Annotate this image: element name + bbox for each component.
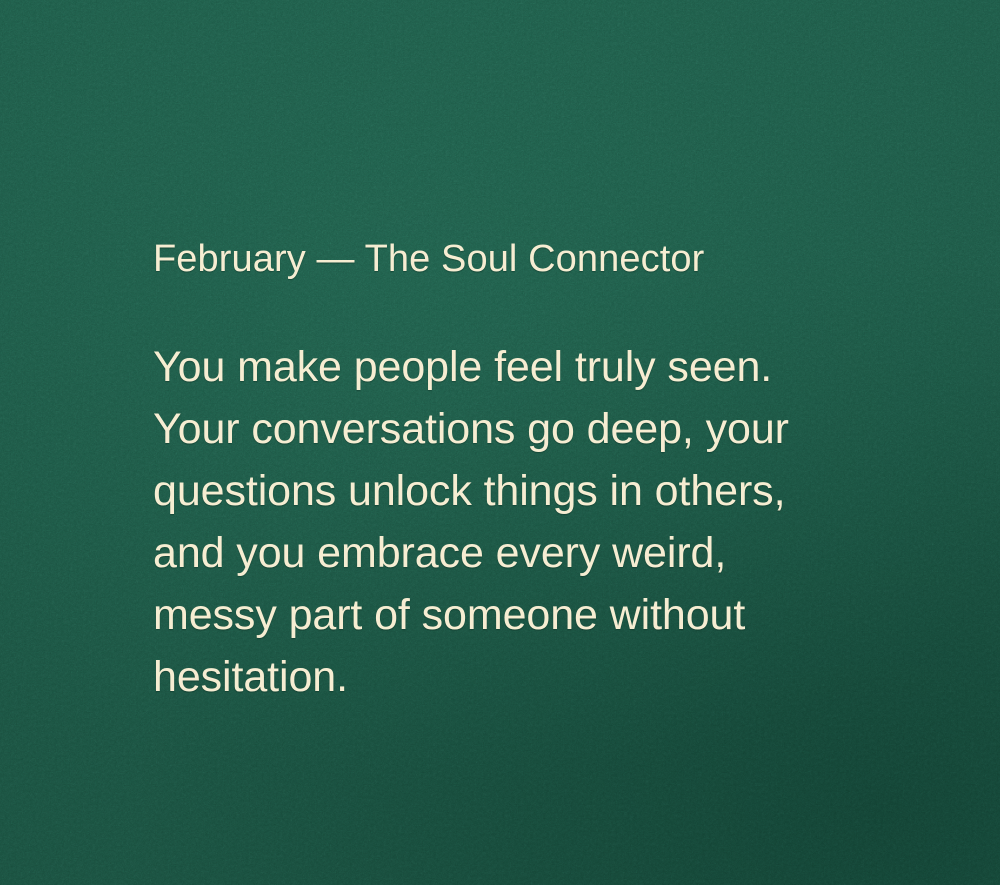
body-line: messy part of someone without bbox=[153, 584, 873, 646]
body-line: Your conversations go deep, your bbox=[153, 398, 873, 460]
body-line: and you embrace every weird, bbox=[153, 522, 873, 584]
card-heading: February — The Soul Connector bbox=[153, 236, 873, 282]
card-body: You make people feel truly seen. Your co… bbox=[153, 336, 873, 708]
quote-card: February — The Soul Connector You make p… bbox=[0, 0, 1000, 885]
body-line: questions unlock things in others, bbox=[153, 460, 873, 522]
body-line: You make people feel truly seen. bbox=[153, 336, 873, 398]
text-block: February — The Soul Connector You make p… bbox=[153, 236, 873, 708]
body-line: hesitation. bbox=[153, 646, 873, 708]
